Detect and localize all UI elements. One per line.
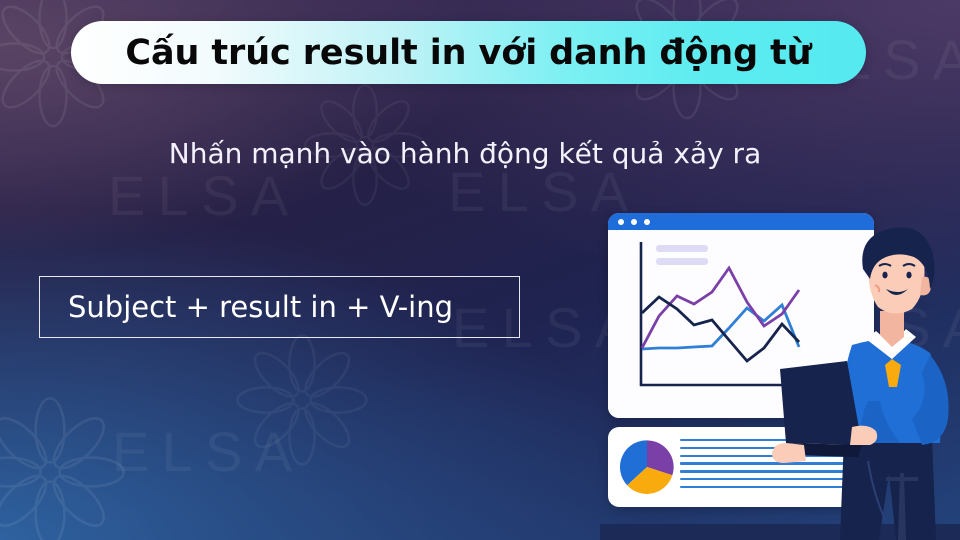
illustration [600,205,960,540]
formula-box: Subject + result in + V-ing [39,276,520,338]
stand-cross [886,477,918,481]
brand-watermark: ELSA [112,424,304,480]
eye [882,272,887,279]
eye [906,272,911,279]
rosette-watermark-icon [0,392,130,540]
rosette-watermark-icon [232,330,372,470]
formula-text: Subject + result in + V-ing [40,290,453,324]
brand-watermark: ELSA [108,168,300,224]
hand [772,443,806,463]
title-banner: Cấu trúc result in với danh động từ [71,21,866,84]
page-title: Cấu trúc result in với danh động từ [125,33,811,73]
person-with-laptop-illustration [600,205,960,540]
slide-root: ELSA ELSA ELSA ELSA ELSA ELSA Cấu trúc r… [0,0,960,540]
subtitle-text: Nhấn mạnh vào hành động kết quả xảy ra [0,137,930,170]
